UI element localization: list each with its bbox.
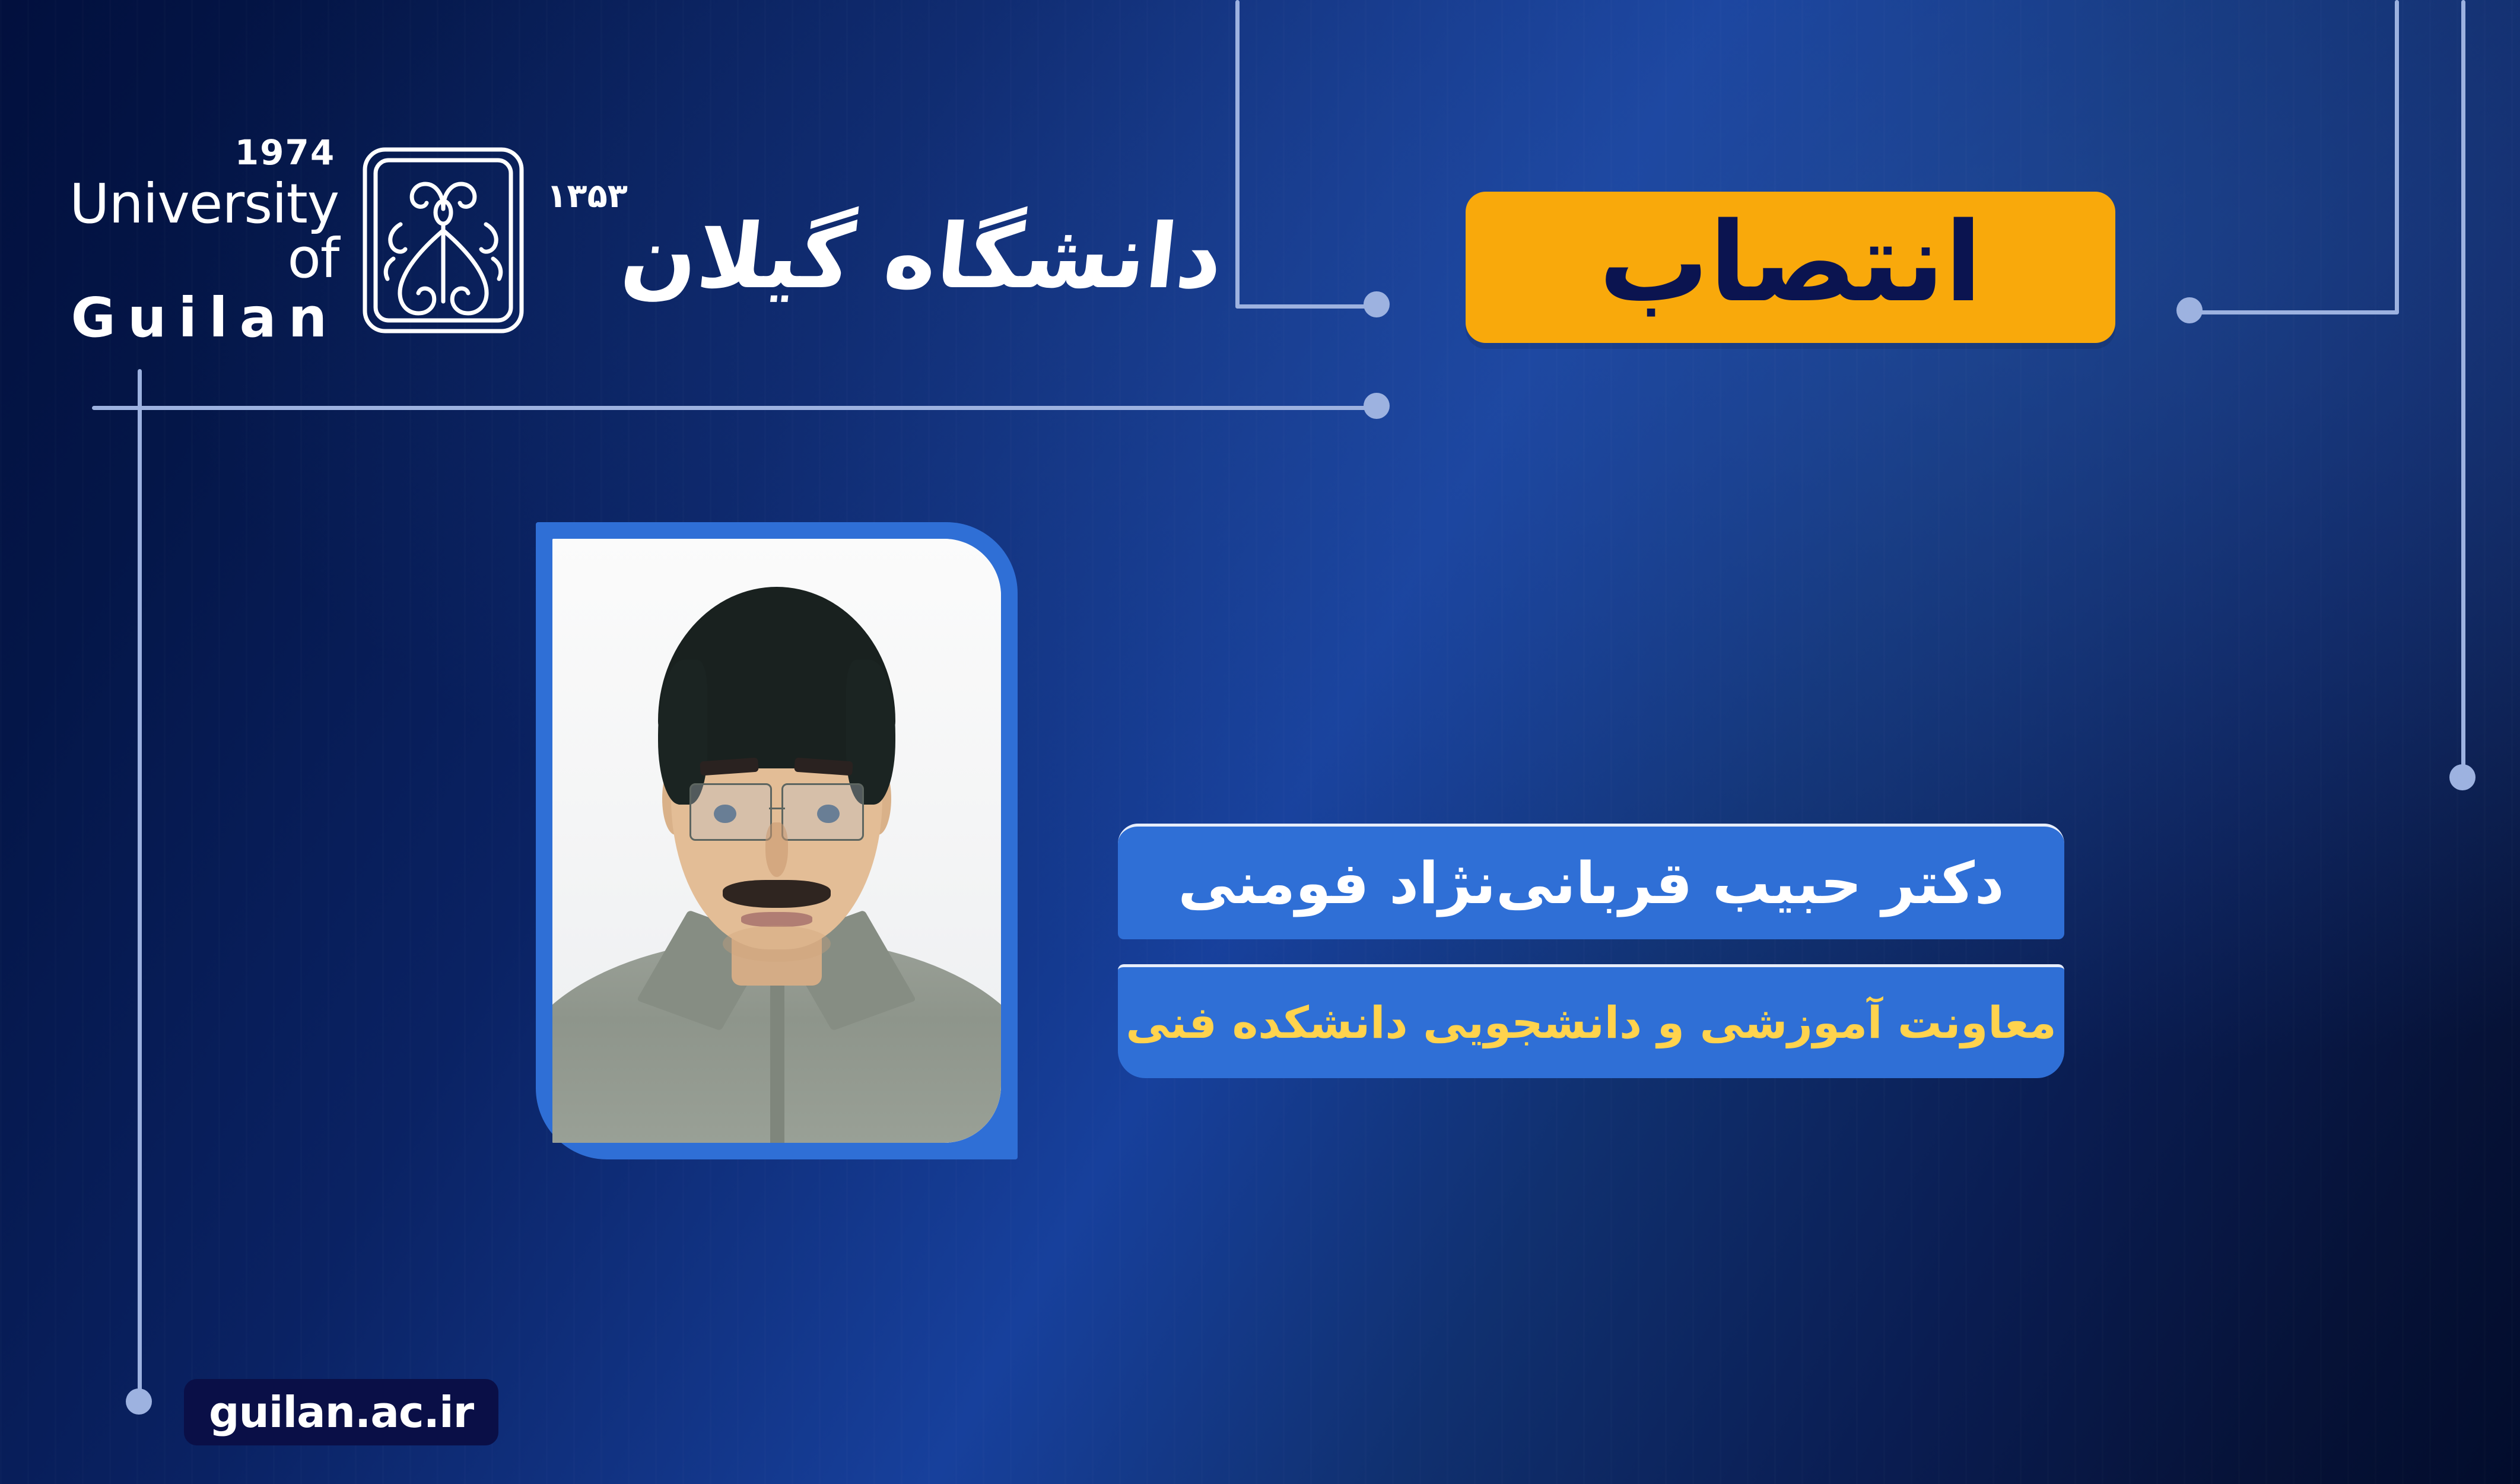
deco-dot-top-centre bbox=[1364, 291, 1390, 317]
portrait-photo bbox=[552, 539, 1001, 1143]
deco-vertical-line-top-centre bbox=[1235, 0, 1240, 309]
deco-dot-left-vertical-end bbox=[126, 1388, 152, 1415]
deco-dot-right-outer-end bbox=[2449, 764, 2475, 790]
guilan-university-emblem-icon bbox=[354, 142, 532, 338]
deco-horizontal-line-right bbox=[2189, 310, 2398, 314]
person-position: معاونت آموزشی و دانشجویی دانشکده فنی bbox=[1126, 1001, 2056, 1045]
university-logo: 1974 University of Guilan ۱۳۵ bbox=[178, 125, 1222, 356]
deco-dot-right bbox=[2176, 297, 2203, 323]
appointment-poster: 1974 University of Guilan ۱۳۵ bbox=[0, 0, 2520, 1484]
person-name: دکتر حبیب قربانی‌نژاد فومنی bbox=[1178, 854, 2004, 912]
logo-name-line-1: University of bbox=[69, 177, 339, 286]
deco-vertical-line-right-inner bbox=[2395, 0, 2399, 314]
deco-dot-left-horizontal-end bbox=[1364, 393, 1390, 419]
logo-english-text: 1974 University of Guilan bbox=[69, 135, 339, 345]
website-url[interactable]: guilan.ac.ir bbox=[209, 1391, 474, 1434]
deco-vertical-line-left bbox=[138, 369, 142, 1402]
appointment-badge: انتصاب bbox=[1466, 192, 2115, 343]
logo-name-fa: دانشگاه گیلان bbox=[617, 211, 1228, 304]
deco-horizontal-line-top-centre bbox=[1235, 304, 1378, 309]
logo-founding-year-en: 1974 bbox=[69, 135, 335, 170]
logo-persian-text: ۱۳۵۳ دانشگاه گیلان bbox=[546, 177, 1222, 304]
appointment-badge-label: انتصاب bbox=[1599, 208, 1982, 317]
logo-name-line-2: Guilan bbox=[69, 291, 339, 345]
person-position-bar: معاونت آموزشی و دانشجویی دانشکده فنی bbox=[1118, 964, 2064, 1078]
website-badge[interactable]: guilan.ac.ir bbox=[184, 1379, 498, 1445]
deco-horizontal-line-left bbox=[92, 406, 1380, 410]
portrait-frame bbox=[536, 522, 1018, 1159]
logo-founding-year-fa: ۱۳۵۳ bbox=[546, 177, 628, 215]
deco-vertical-line-right-outer bbox=[2461, 0, 2465, 776]
person-name-bar: دکتر حبیب قربانی‌نژاد فومنی bbox=[1118, 824, 2064, 939]
